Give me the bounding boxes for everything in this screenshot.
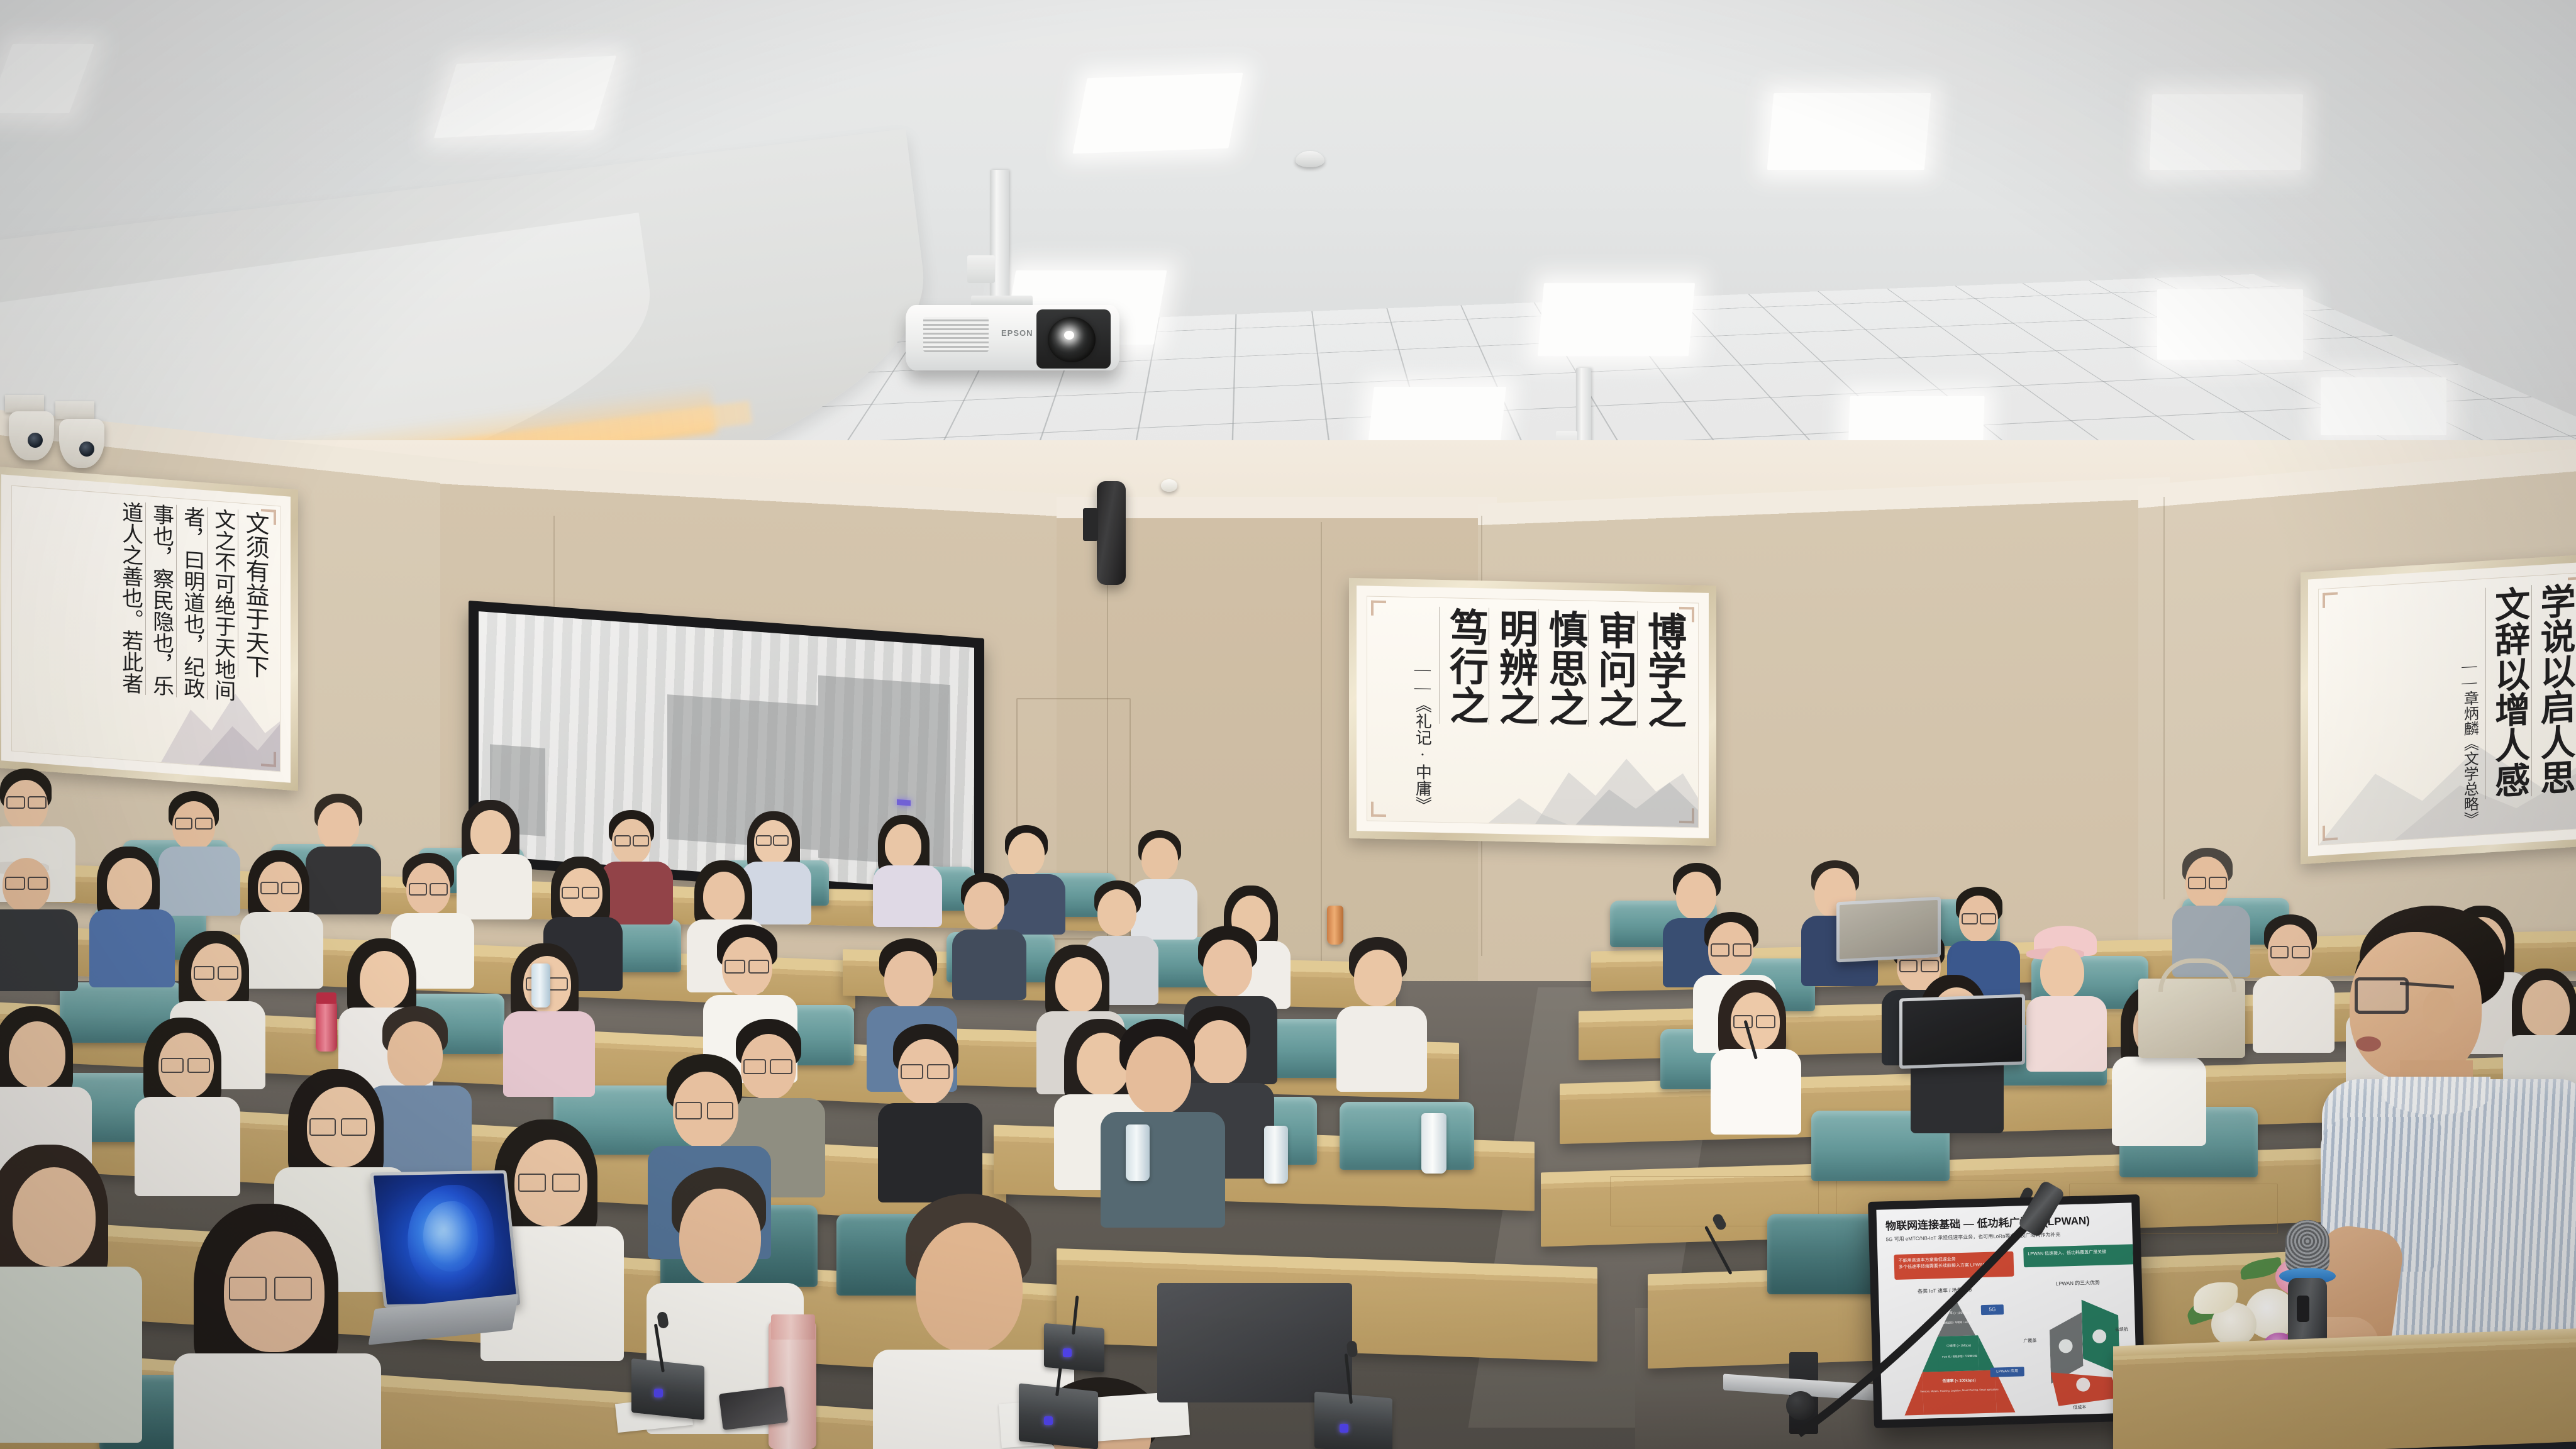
presenter-mouth [2356, 1036, 2381, 1052]
glasses-icon [927, 1064, 950, 1079]
head [1354, 950, 1402, 1006]
desk-microphone[interactable] [1044, 1296, 1113, 1371]
head [1192, 1020, 1246, 1084]
bottle-cap[interactable] [771, 1314, 815, 1340]
head [884, 951, 933, 1008]
calligraphy-column: 明辨之 [1489, 608, 1538, 726]
water-bottle[interactable] [1327, 906, 1343, 945]
presentation-monitor[interactable]: 物联网连接基础 — 低功耗广域网 (LPWAN) 5G 可用 eMTC/NB-I… [1868, 1194, 2146, 1428]
head [916, 1223, 1023, 1352]
slide-title: 物联网连接基础 — 低功耗广域网 (LPWAN) [1885, 1211, 2090, 1233]
glasses-icon [309, 1118, 336, 1136]
led-panel-light [1073, 73, 1243, 154]
calligraphy-column: 慎思之 [1538, 609, 1588, 727]
water-bottle[interactable] [531, 963, 550, 1008]
torso [878, 1103, 982, 1202]
glasses-icon [6, 796, 25, 809]
glasses-icon [748, 960, 769, 974]
screen-status-led [897, 799, 911, 806]
wall-speaker-icon [1097, 481, 1126, 585]
head [2040, 946, 2084, 999]
calligraphy-column: 笃行之 [1439, 607, 1489, 725]
projector-vent [923, 317, 989, 352]
calligraphy-frame-left: 文须有益于天下 文之不可绝于天地间 者，曰明道也，纪政 事也，察民隐也，乐 道人… [0, 466, 298, 791]
torso [89, 909, 175, 987]
microphone-base [1314, 1392, 1392, 1449]
desk-microphone[interactable] [631, 1323, 713, 1418]
laptop-screen [1902, 997, 2022, 1066]
torso [174, 1353, 381, 1449]
glasses-icon [229, 1277, 267, 1301]
water-bottle[interactable] [1264, 1126, 1288, 1184]
torso [1101, 1112, 1225, 1228]
slide-green-bullet: LPWAN 低速接入、低功耗覆盖广是关键 [2028, 1248, 2129, 1258]
microphone-led-indicator [654, 1389, 663, 1397]
glasses-icon [1921, 960, 1939, 972]
torso [1336, 1006, 1427, 1092]
pyramid-diagram: 高速率 (> 100Mbps) 视频监控 / 车联网 / AR·VR 中速率 (… [1896, 1298, 2019, 1417]
glasses-icon [2270, 946, 2289, 958]
calligraphy-columns: 博学之 审问之 慎思之 明辨之 笃行之 ——《礼记·中庸》 [1367, 596, 1698, 827]
head [1097, 889, 1136, 936]
torso [503, 1011, 595, 1097]
glasses-icon [187, 1058, 210, 1073]
prism-label-battery: 长续航 [2115, 1326, 2128, 1333]
desk-microphone[interactable] [1314, 1357, 1402, 1449]
presenter-collar [2384, 1077, 2490, 1114]
head [1141, 838, 1178, 880]
calligraphy-column: 学说以启人思 [2531, 582, 2576, 797]
glasses-icon [281, 882, 299, 894]
calligraphy-source: ——《礼记·中庸》 [1406, 660, 1439, 813]
microphone-led-indicator [1063, 1348, 1072, 1357]
led-panel-light [2321, 377, 2446, 435]
glasses-icon [1962, 913, 1978, 924]
microphone-capsule [1346, 1340, 1358, 1358]
bottle-cap[interactable] [316, 992, 336, 1004]
led-panel-light [1538, 283, 1695, 356]
smoke-detector-icon [1296, 151, 1324, 167]
head [679, 1189, 761, 1285]
pyramid-level-high [1936, 1299, 1975, 1336]
calligraphy-column: 文须有益于天下 [238, 509, 271, 679]
pyramid-caption: 各类 IoT 速率 / 场景分布 [1918, 1287, 1972, 1295]
desk-microphone[interactable] [1748, 1019, 1799, 1075]
head [107, 858, 152, 911]
glasses-icon [548, 977, 568, 991]
glasses-icon [1980, 913, 1996, 924]
head [1676, 872, 1716, 919]
calligraphy-column: 文辞以增人感 [2485, 585, 2531, 799]
calligraphy-column: 文之不可绝于天地间 [207, 507, 238, 702]
head [1055, 957, 1102, 1013]
head [964, 882, 1004, 930]
torso [306, 847, 381, 914]
camera-mount-plate [55, 401, 94, 419]
laptop[interactable] [370, 1170, 520, 1308]
prism-label-cost: 低成本 [2073, 1404, 2086, 1411]
glasses-icon [743, 1059, 766, 1074]
torso [2026, 996, 2107, 1072]
pyramid-level-mid-body [1938, 1335, 1979, 1372]
prism-caption: LPWAN 的三大优势 [2056, 1279, 2101, 1287]
glasses-icon [274, 1277, 312, 1301]
calligraphy-paper: 学说以启人思 文辞以增人感 ——章炳麟《文学总略》 [2318, 572, 2576, 846]
calligraphy-column: 道人之善也。若此者 [115, 500, 145, 695]
glasses-icon [552, 1174, 580, 1192]
laptop[interactable] [1836, 897, 1941, 963]
led-panel-light [2150, 94, 2303, 170]
pyramid-level-mid-right [1978, 1335, 1996, 1371]
head [387, 1021, 443, 1087]
glasses-icon [2188, 877, 2206, 889]
torso [952, 930, 1026, 1000]
stand-caster [1786, 1391, 1815, 1420]
camera-lens [28, 433, 43, 448]
head [9, 1021, 65, 1088]
glasses-icon [756, 835, 772, 846]
head [1126, 1036, 1191, 1114]
water-bottle[interactable] [1421, 1113, 1446, 1174]
torso [2112, 1057, 2206, 1146]
glasses-icon [194, 966, 214, 980]
projector-junction-box [967, 255, 995, 283]
microphone-led-indicator [1044, 1416, 1053, 1425]
calligraphy-paper: 文须有益于天下 文之不可绝于天地间 者，曰明道也，纪政 事也，察民隐也，乐 道人… [11, 486, 280, 772]
glasses-icon [218, 966, 238, 980]
head [1008, 833, 1045, 875]
calligraphy-column: 审问之 [1588, 610, 1638, 728]
glasses-icon [341, 1118, 367, 1136]
microphone-grille [2285, 1220, 2329, 1273]
camera-mount-plate [5, 395, 44, 413]
torso [158, 847, 240, 916]
glasses-icon [562, 887, 579, 899]
glasses-icon [773, 835, 789, 846]
led-panel-light [434, 55, 616, 138]
glasses-icon [430, 883, 448, 896]
calligraphy-columns: 学说以启人思 文辞以增人感 ——章炳麟《文学总略》 [2319, 573, 2576, 845]
glasses-icon [582, 887, 599, 899]
water-bottle[interactable] [316, 1001, 337, 1052]
lecture-hall-scene: EPSON EPSON [0, 0, 2576, 1449]
glasses-icon [28, 796, 47, 809]
camera-lens [79, 441, 94, 457]
glasses-icon [409, 883, 427, 896]
pyramid-level-high-sub: 视频监控 / 车联网 / AR·VR [1928, 1320, 1986, 1326]
torso [600, 862, 673, 924]
pyramid-tag-lpwan: LPWAN 应用 [1990, 1367, 2024, 1377]
glasses-icon [2209, 877, 2227, 889]
presenter-ear [2423, 989, 2455, 1033]
led-panel-light [1767, 93, 1931, 170]
led-panel-light [1368, 387, 1506, 445]
glasses-icon [633, 835, 649, 847]
projector-left: EPSON [906, 170, 1182, 396]
prism-label-coverage: 广覆盖 [2023, 1338, 2036, 1345]
ceiling-dome-camera-icon [1161, 479, 1177, 492]
calligraphy-frame-right: 学说以启人思 文辞以增人感 ——章炳麟《文学总略》 [2301, 553, 2576, 864]
calligraphy-frame-center: 博学之 审问之 慎思之 明辨之 笃行之 ——《礼记·中庸》 [1349, 578, 1716, 846]
glasses-icon [614, 835, 631, 847]
head [470, 810, 511, 857]
monitor-screen: 物联网连接基础 — 低功耗广域网 (LPWAN) 5G 可用 eMTC/NB-I… [1876, 1202, 2137, 1419]
torso [457, 854, 532, 919]
torso [0, 1267, 142, 1443]
glasses-icon [5, 877, 25, 890]
desk-microphone[interactable] [1723, 1220, 1799, 1302]
projector-brand-label: EPSON [1001, 328, 1033, 338]
torso [997, 874, 1065, 935]
glasses-icon [707, 1102, 733, 1119]
glasses-icon [1711, 943, 1729, 957]
glasses-icon [260, 882, 279, 894]
calligraphy-source: ——章炳麟《文学总略》 [2453, 657, 2485, 828]
head [703, 872, 745, 921]
laptop-screen [374, 1174, 517, 1304]
calligraphy-column: 者，曰明道也，纪政 [176, 505, 207, 700]
glasses-icon [770, 1059, 792, 1074]
torso [0, 909, 78, 991]
microphone-switch[interactable] [2297, 1296, 2309, 1322]
head [318, 802, 359, 850]
glasses-icon [161, 1058, 184, 1073]
glasses-icon [1733, 943, 1752, 957]
head [1203, 940, 1252, 997]
torso [240, 912, 323, 989]
glasses-icon [675, 1102, 702, 1119]
head [13, 1167, 96, 1267]
glasses-icon [28, 877, 48, 890]
calligraphy-column: 博学之 [1637, 611, 1687, 729]
wall-seam [2163, 497, 2165, 899]
lecture-seat[interactable] [1340, 1102, 1474, 1170]
calligraphy-column: 事也，察民隐也，乐 [145, 502, 176, 697]
glasses-icon [1899, 960, 1918, 972]
projector-lens-glint [1064, 331, 1074, 340]
pyramid-tag-5g: 5G [1981, 1304, 2004, 1315]
torso [1131, 879, 1197, 940]
calligraphy-columns: 文须有益于天下 文之不可绝于天地间 者，曰明道也，纪政 事也，察民隐也，乐 道人… [12, 486, 280, 772]
water-bottle[interactable] [769, 1321, 816, 1449]
projector-lens [1048, 317, 1096, 362]
glasses-icon [724, 960, 745, 974]
glasses-icon [518, 1174, 546, 1192]
glasses-icon [901, 1064, 923, 1079]
microphone-led-indicator [1340, 1424, 1348, 1433]
head [885, 824, 921, 868]
laptop[interactable] [1899, 994, 2025, 1069]
torso [873, 865, 942, 927]
calligraphy-paper: 博学之 审问之 慎思之 明辨之 笃行之 ——《礼记·中庸》 [1367, 596, 1699, 828]
water-bottle[interactable] [1126, 1124, 1150, 1181]
glasses-icon [175, 818, 192, 830]
torso [135, 1097, 240, 1196]
slide-green-box: LPWAN 低速接入、低功耗覆盖广是关键 [2023, 1244, 2135, 1267]
laptop-screen [1840, 900, 1938, 959]
glasses-icon [195, 818, 213, 830]
speaker-bracket [1083, 508, 1098, 541]
head [360, 951, 409, 1009]
slide-red-box: 不能用高速率方案做低速业务 多个低速率终端需要长续航接入方案 LPWAN [1894, 1252, 2014, 1280]
microphone-base [631, 1358, 704, 1420]
wall-seam [1321, 522, 1322, 962]
led-panel-light [2157, 289, 2303, 360]
